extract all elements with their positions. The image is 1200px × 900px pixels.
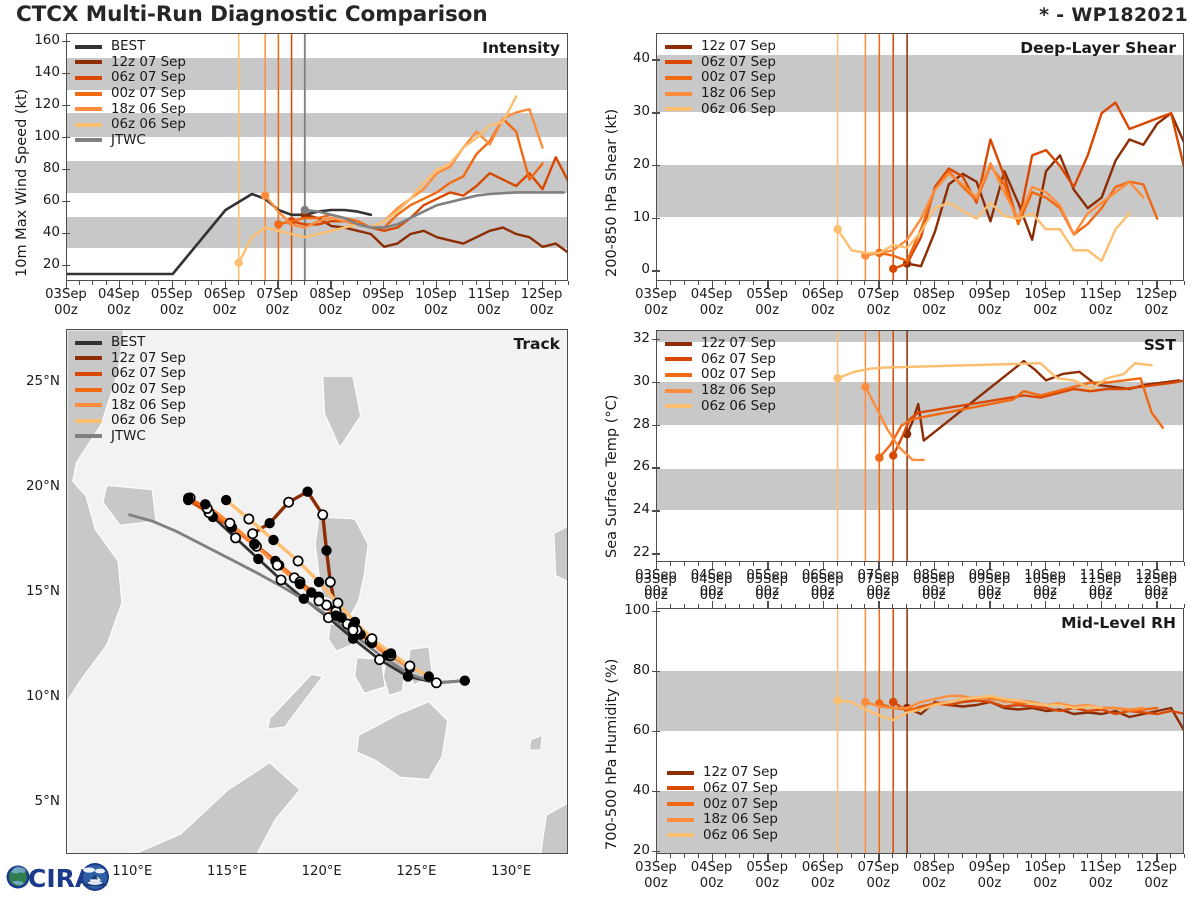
legend-item: 06z 06 Sep	[665, 101, 776, 117]
y-tick-label: 28	[610, 416, 650, 432]
legend-label: 12z 07 Sep	[111, 351, 186, 366]
x-minor-tick	[823, 604, 824, 608]
legend-swatch	[665, 404, 692, 408]
track-marker-open	[231, 533, 240, 542]
x-minor-tick	[449, 281, 450, 285]
x-minor-tick	[962, 854, 963, 858]
x-minor-tick	[753, 562, 754, 566]
series-init-marker	[261, 191, 269, 199]
x-tick-day: 12Sep	[502, 287, 582, 303]
x-minor-tick	[837, 562, 838, 566]
lat-tick-label: 5°N	[4, 793, 60, 809]
y-tick-mark	[652, 731, 660, 732]
x-minor-tick	[1156, 281, 1157, 285]
x-minor-tick	[753, 854, 754, 858]
legend-swatch	[75, 403, 102, 407]
x-minor-tick	[542, 281, 543, 285]
y-tick-mark	[62, 169, 70, 170]
legend-label: 06z 07 Sep	[111, 366, 186, 381]
x-minor-tick	[251, 281, 252, 285]
x-minor-tick	[264, 281, 265, 285]
x-minor-tick	[892, 854, 893, 858]
x-minor-tick	[920, 604, 921, 608]
legend-swatch	[75, 419, 102, 423]
x-minor-tick	[1031, 854, 1032, 858]
legend-swatch	[75, 434, 102, 438]
x-minor-tick	[809, 854, 810, 858]
legend-item: 00z 07 Sep	[75, 86, 186, 102]
legend-label: 12z 07 Sep	[701, 39, 776, 54]
x-minor-tick	[976, 281, 977, 285]
x-minor-tick	[1073, 281, 1074, 285]
x-minor-tick	[1017, 562, 1018, 566]
legend-item: 06z 06 Sep	[75, 117, 186, 133]
y-tick-label: 100	[610, 602, 650, 618]
x-minor-tick	[809, 281, 810, 285]
legend-swatch	[667, 802, 694, 806]
y-tick-label: 80	[610, 662, 650, 678]
series-line	[865, 387, 923, 460]
x-minor-tick	[1115, 604, 1116, 608]
x-minor-tick	[670, 281, 671, 285]
x-minor-tick	[989, 562, 990, 566]
legend-swatch	[665, 107, 692, 111]
legend-label: 00z 07 Sep	[703, 797, 778, 812]
shear-ylabel: 200-850 hPa Shear (kt)	[604, 109, 620, 277]
track-marker-open	[248, 529, 257, 538]
track-marker-filled	[268, 535, 278, 545]
x-minor-tick	[698, 604, 699, 608]
y-tick-label: 100	[20, 128, 60, 144]
panel-track: Track BEST12z 07 Sep06z 07 Sep00z 07 Sep…	[66, 329, 568, 854]
x-tick-day: 12Sep	[1116, 860, 1196, 876]
legend-label: 00z 07 Sep	[111, 86, 186, 101]
x-minor-tick	[304, 281, 305, 285]
x-minor-tick	[211, 281, 212, 285]
x-minor-tick	[725, 604, 726, 608]
x-minor-tick	[670, 854, 671, 858]
series-init-marker	[861, 698, 869, 706]
x-minor-tick	[489, 281, 490, 285]
x-minor-tick	[277, 281, 278, 285]
y-tick-mark	[652, 851, 660, 852]
x-minor-tick	[330, 281, 331, 285]
legend-item: 06z 07 Sep	[665, 55, 776, 71]
track-marker-filled	[314, 577, 324, 587]
track-legend: BEST12z 07 Sep06z 07 Sep00z 07 Sep18z 06…	[75, 335, 186, 444]
legend-swatch	[75, 356, 102, 360]
legend-label: 00z 07 Sep	[111, 382, 186, 397]
track-line	[226, 500, 429, 676]
track-marker-filled	[424, 671, 434, 681]
legend-item: 00z 07 Sep	[665, 70, 776, 86]
x-tick-label: 12Sep00z	[502, 287, 582, 319]
track-marker-filled	[302, 487, 312, 497]
shear-corner-label: Deep-Layer Shear	[1020, 39, 1176, 57]
x-tick-label: 12Sep00z	[1116, 572, 1196, 604]
series-init-marker	[875, 454, 883, 462]
x-minor-tick	[837, 604, 838, 608]
x-minor-tick	[1031, 281, 1032, 285]
legend-swatch	[665, 342, 692, 346]
x-minor-tick	[1142, 562, 1143, 566]
legend-item: 06z 06 Sep	[667, 827, 778, 843]
y-tick-label: 26	[610, 458, 650, 474]
legend-label: 06z 07 Sep	[701, 352, 776, 367]
x-minor-tick	[1128, 854, 1129, 858]
x-minor-tick	[1017, 854, 1018, 858]
x-minor-tick	[934, 281, 935, 285]
y-tick-label: 24	[610, 501, 650, 517]
y-tick-label: 10	[610, 209, 650, 225]
legend-swatch	[665, 373, 692, 377]
x-minor-tick	[712, 562, 713, 566]
x-minor-tick	[1128, 562, 1129, 566]
track-marker-filled	[321, 545, 331, 555]
y-tick-label: 30	[610, 373, 650, 389]
legend-item: JTWC	[75, 429, 186, 445]
legend-label: JTWC	[111, 133, 146, 148]
x-minor-tick	[878, 854, 879, 858]
shear-legend: 12z 07 Sep06z 07 Sep00z 07 Sep18z 06 Sep…	[665, 39, 776, 117]
x-minor-tick	[1003, 604, 1004, 608]
y-tick-mark	[652, 791, 660, 792]
lon-tick-label: 115°E	[187, 864, 267, 880]
legend-label: JTWC	[111, 429, 146, 444]
legend-label: BEST	[111, 335, 145, 350]
x-minor-tick	[864, 854, 865, 858]
x-minor-tick	[1087, 854, 1088, 858]
x-minor-tick	[1142, 281, 1143, 285]
y-tick-mark	[62, 201, 70, 202]
x-minor-tick	[684, 854, 685, 858]
legend-swatch	[75, 372, 102, 376]
lon-tick-label: 125°E	[376, 864, 456, 880]
y-tick-label: 60	[610, 722, 650, 738]
x-minor-tick	[864, 604, 865, 608]
x-minor-tick	[670, 604, 671, 608]
x-minor-tick	[1031, 562, 1032, 566]
y-tick-mark	[652, 270, 660, 271]
lat-tick-label: 20°N	[4, 478, 60, 494]
x-minor-tick	[962, 604, 963, 608]
legend-item: BEST	[75, 335, 186, 351]
x-minor-tick	[1170, 281, 1171, 285]
legend-item: 00z 07 Sep	[75, 382, 186, 398]
x-tick-day: 12Sep	[1116, 287, 1196, 303]
legend-label: 18z 06 Sep	[701, 86, 776, 101]
y-tick-mark	[62, 105, 70, 106]
legend-item: JTWC	[75, 133, 186, 149]
x-minor-tick	[1059, 604, 1060, 608]
legend-swatch	[667, 818, 694, 822]
legend-item: 12z 07 Sep	[665, 39, 776, 55]
legend-swatch	[667, 833, 694, 837]
x-minor-tick	[725, 281, 726, 285]
y-tick-label: 30	[610, 103, 650, 119]
legend-label: BEST	[111, 39, 145, 54]
x-minor-tick	[781, 854, 782, 858]
legend-label: 18z 06 Sep	[111, 398, 186, 413]
y-tick-label: 20	[610, 842, 650, 858]
series-init-marker	[889, 265, 897, 273]
x-minor-tick	[698, 281, 699, 285]
x-minor-tick	[1115, 854, 1116, 858]
y-tick-mark	[652, 425, 660, 426]
x-minor-tick	[1059, 562, 1060, 566]
legend-swatch	[667, 771, 694, 775]
series-line	[893, 380, 1184, 455]
x-minor-tick	[934, 604, 935, 608]
x-minor-tick	[1059, 281, 1060, 285]
panel-shear: Deep-Layer Shear 12z 07 Sep06z 07 Sep00z…	[656, 33, 1184, 281]
track-marker-filled	[386, 648, 396, 658]
track-marker-filled	[253, 554, 263, 564]
series-init-marker	[235, 259, 243, 267]
y-tick-mark	[652, 339, 660, 340]
series-line	[907, 113, 1184, 266]
x-minor-tick	[753, 281, 754, 285]
x-minor-tick	[767, 854, 768, 858]
x-minor-tick	[528, 281, 529, 285]
x-minor-tick	[555, 281, 556, 285]
x-minor-tick	[962, 281, 963, 285]
y-tick-mark	[652, 218, 660, 219]
x-minor-tick	[906, 604, 907, 608]
x-minor-tick	[1170, 854, 1171, 858]
x-minor-tick	[396, 281, 397, 285]
track-marker-open	[294, 556, 303, 565]
legend-swatch	[665, 60, 692, 64]
x-minor-tick	[1128, 604, 1129, 608]
x-minor-tick	[698, 562, 699, 566]
x-minor-tick	[1115, 562, 1116, 566]
legend-swatch	[665, 76, 692, 80]
x-minor-tick	[1059, 854, 1060, 858]
panel-intensity: Intensity BEST12z 07 Sep06z 07 Sep00z 07…	[66, 33, 568, 281]
x-minor-tick	[357, 281, 358, 285]
x-minor-tick	[1156, 854, 1157, 858]
x-minor-tick	[725, 854, 726, 858]
lon-tick-label: 120°E	[282, 864, 362, 880]
legend-label: 06z 07 Sep	[703, 781, 778, 796]
series-line	[879, 166, 1157, 261]
x-minor-tick	[795, 604, 796, 608]
x-minor-tick	[823, 562, 824, 566]
x-minor-tick	[1170, 604, 1171, 608]
x-minor-tick	[976, 854, 977, 858]
track-corner-label: Track	[514, 335, 560, 353]
x-minor-tick	[1073, 562, 1074, 566]
x-minor-tick	[989, 854, 990, 858]
lat-tick-label: 25°N	[4, 373, 60, 389]
y-tick-mark	[652, 553, 660, 554]
track-marker-open	[244, 514, 253, 523]
x-minor-tick	[739, 562, 740, 566]
track-marker-open	[367, 634, 376, 643]
track-marker-open	[273, 561, 282, 570]
y-tick-label: 20	[610, 156, 650, 172]
legend-swatch	[75, 45, 102, 49]
x-minor-tick	[1073, 854, 1074, 858]
legend-swatch	[75, 341, 102, 345]
x-minor-tick	[920, 854, 921, 858]
x-minor-tick	[795, 281, 796, 285]
x-minor-tick	[1087, 604, 1088, 608]
x-minor-tick	[119, 281, 120, 285]
x-minor-tick	[515, 281, 516, 285]
x-minor-tick	[158, 281, 159, 285]
x-minor-tick	[1142, 604, 1143, 608]
x-minor-tick	[837, 281, 838, 285]
x-minor-tick	[1101, 604, 1102, 608]
legend-swatch	[665, 357, 692, 361]
x-minor-tick	[948, 854, 949, 858]
track-marker-open	[405, 661, 414, 670]
rh-ylabel: 700-500 hPa Humidity (%)	[604, 659, 620, 850]
legend-item: 12z 07 Sep	[75, 55, 186, 71]
y-tick-label: 60	[20, 192, 60, 208]
x-minor-tick	[1156, 562, 1157, 566]
x-minor-tick	[781, 604, 782, 608]
x-minor-tick	[409, 281, 410, 285]
x-minor-tick	[656, 562, 657, 566]
legend-label: 18z 06 Sep	[703, 812, 778, 827]
x-tick-hour: 00z	[502, 303, 582, 319]
x-minor-tick	[370, 281, 371, 285]
y-tick-label: 20	[20, 256, 60, 272]
x-tick-label: 12Sep00z	[1116, 860, 1196, 892]
x-minor-tick	[781, 281, 782, 285]
x-minor-tick	[989, 604, 990, 608]
y-tick-mark	[62, 137, 70, 138]
track-marker-open	[225, 519, 234, 528]
x-minor-tick	[712, 281, 713, 285]
x-tick-label: 12Sep00z	[1116, 287, 1196, 319]
track-marker-open	[284, 498, 293, 507]
x-minor-tick	[1087, 281, 1088, 285]
x-minor-tick	[656, 854, 657, 858]
legend-label: 06z 07 Sep	[111, 70, 186, 85]
x-minor-tick	[1045, 854, 1046, 858]
x-minor-tick	[948, 281, 949, 285]
series-init-marker	[889, 451, 897, 459]
x-minor-tick	[1003, 562, 1004, 566]
x-minor-tick	[767, 604, 768, 608]
x-minor-tick	[725, 562, 726, 566]
cira-logo: CIRA	[4, 856, 116, 898]
legend-label: 06z 06 Sep	[701, 102, 776, 117]
x-minor-tick	[809, 562, 810, 566]
y-tick-label: 22	[610, 544, 650, 560]
legend-label: 06z 06 Sep	[111, 413, 186, 428]
legend-swatch	[75, 92, 102, 96]
track-marker-open	[318, 510, 327, 519]
x-minor-tick	[670, 562, 671, 566]
x-minor-tick	[684, 562, 685, 566]
track-marker-open	[314, 596, 323, 605]
x-minor-tick	[878, 281, 879, 285]
x-tick-hour: 00z	[1116, 303, 1196, 319]
track-marker-open	[326, 577, 335, 586]
x-minor-tick	[976, 562, 977, 566]
y-tick-mark	[652, 112, 660, 113]
x-minor-tick	[343, 281, 344, 285]
x-minor-tick	[132, 281, 133, 285]
legend-item: 06z 07 Sep	[75, 70, 186, 86]
x-minor-tick	[1045, 562, 1046, 566]
y-tick-label: 40	[610, 50, 650, 66]
legend-swatch	[75, 76, 102, 80]
legend-item: 18z 06 Sep	[75, 101, 186, 117]
lat-tick-label: 10°N	[4, 688, 60, 704]
x-minor-tick	[837, 854, 838, 858]
track-marker-filled	[331, 610, 341, 620]
x-minor-tick	[795, 854, 796, 858]
y-tick-label: 160	[20, 32, 60, 48]
y-tick-label: 40	[20, 224, 60, 240]
legend-label: 00z 07 Sep	[701, 367, 776, 382]
x-minor-tick	[712, 854, 713, 858]
sst-legend: 12z 07 Sep06z 07 Sep00z 07 Sep18z 06 Sep…	[665, 336, 776, 414]
series-line	[838, 203, 1130, 261]
series-init-marker	[833, 374, 841, 382]
x-minor-tick	[1170, 562, 1171, 566]
legend-item: 18z 06 Sep	[667, 812, 778, 828]
legend-swatch	[665, 389, 692, 393]
legend-item: 06z 07 Sep	[665, 352, 776, 368]
legend-item: 06z 07 Sep	[75, 366, 186, 382]
x-minor-tick	[851, 281, 852, 285]
legend-item: 06z 06 Sep	[75, 413, 186, 429]
x-minor-tick	[656, 281, 657, 285]
legend-item: 18z 06 Sep	[75, 397, 186, 413]
x-minor-tick	[238, 281, 239, 285]
track-marker-open	[432, 678, 441, 687]
x-minor-tick	[962, 562, 963, 566]
y-tick-mark	[652, 165, 660, 166]
series-line	[907, 361, 1179, 440]
y-tick-mark	[652, 382, 660, 383]
y-tick-mark	[652, 467, 660, 468]
x-minor-tick	[185, 281, 186, 285]
x-minor-tick	[198, 281, 199, 285]
series-line	[907, 702, 1184, 732]
x-minor-tick	[1017, 281, 1018, 285]
legend-label: 12z 07 Sep	[111, 55, 186, 70]
x-minor-tick	[739, 604, 740, 608]
x-minor-tick	[145, 281, 146, 285]
x-minor-tick	[712, 604, 713, 608]
x-minor-tick	[1087, 562, 1088, 566]
legend-item: 06z 06 Sep	[665, 398, 776, 414]
x-minor-tick	[698, 854, 699, 858]
x-minor-tick	[1184, 604, 1185, 608]
x-minor-tick	[66, 281, 67, 285]
x-minor-tick	[1128, 281, 1129, 285]
x-minor-tick	[906, 562, 907, 566]
legend-label: 18z 06 Sep	[701, 383, 776, 398]
x-minor-tick	[781, 562, 782, 566]
x-minor-tick	[684, 281, 685, 285]
series-line	[67, 194, 371, 274]
series-init-marker	[861, 383, 869, 391]
x-minor-tick	[1101, 281, 1102, 285]
x-minor-tick	[767, 562, 768, 566]
track-line	[253, 492, 361, 635]
legend-label: 06z 06 Sep	[111, 117, 186, 132]
x-minor-tick	[92, 281, 93, 285]
